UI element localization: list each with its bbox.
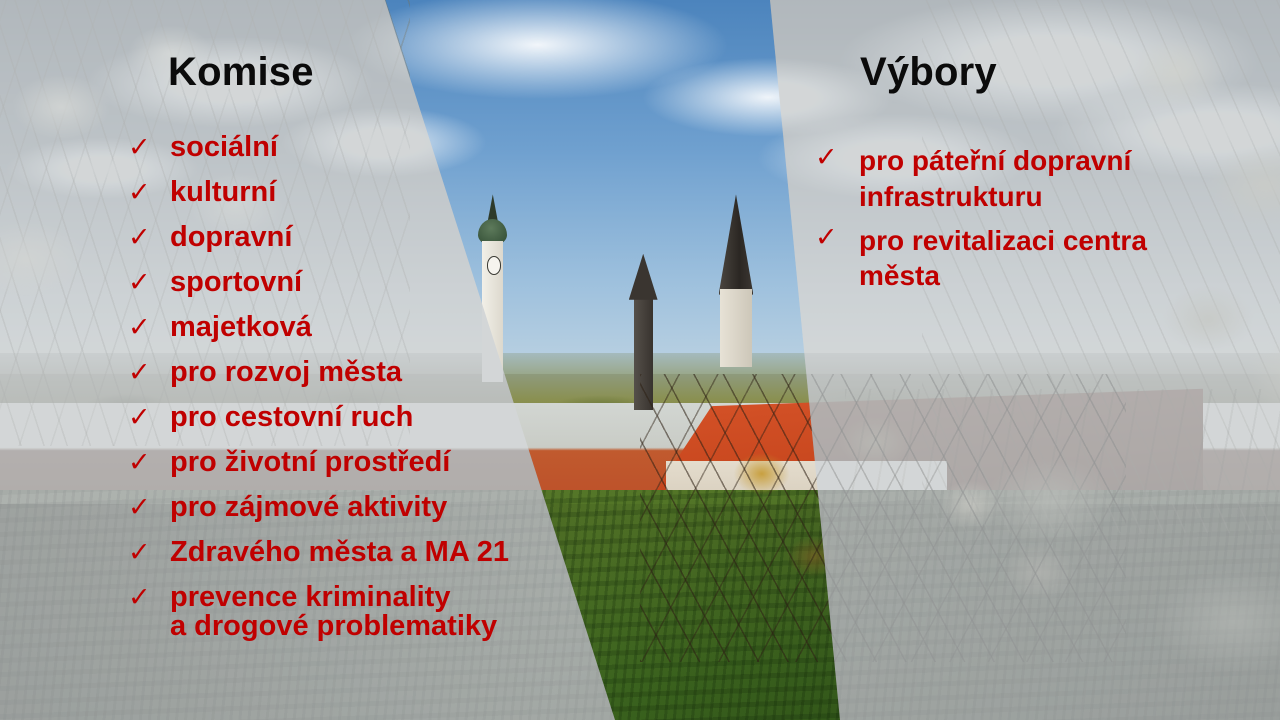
list-item-label: Zdravého města a MA 21	[170, 538, 598, 567]
list-item[interactable]: ✓ majetková	[128, 313, 598, 342]
check-mark-icon: ✓	[128, 358, 170, 386]
list-item[interactable]: ✓ Zdravého města a MA 21	[128, 538, 598, 567]
check-mark-icon: ✓	[128, 223, 170, 251]
pointed-tower	[714, 194, 758, 367]
list-item-label: majetková	[170, 313, 598, 342]
check-mark-icon: ✓	[128, 268, 170, 296]
column-komise-title: Komise	[168, 50, 598, 95]
list-item[interactable]: ✓ pro rozvoj města	[128, 358, 598, 387]
pointed-tower-spire	[719, 194, 754, 294]
check-mark-icon: ✓	[128, 538, 170, 566]
list-item[interactable]: ✓ kulturní	[128, 178, 598, 207]
check-mark-icon: ✓	[128, 493, 170, 521]
column-vybory-title: Výbory	[860, 50, 1235, 95]
list-item[interactable]: ✓ prevence kriminality a drogové problem…	[128, 583, 598, 641]
list-item-label: sportovní	[170, 268, 598, 297]
list-item-label: sociální	[170, 133, 598, 162]
list-item-label: pro cestovní ruch	[170, 403, 598, 432]
list-item[interactable]: ✓ pro revitalizaci centra města	[815, 223, 1235, 295]
column-komise: Komise ✓ sociální ✓ kulturní ✓ dopravní …	[128, 50, 598, 657]
list-item[interactable]: ✓ sociální	[128, 133, 598, 162]
list-item-label: pro revitalizaci centra města	[859, 223, 1235, 295]
list-item[interactable]: ✓ pro cestovní ruch	[128, 403, 598, 432]
check-mark-icon: ✓	[815, 143, 859, 171]
list-item-label: pro životní prostředí	[170, 448, 598, 477]
list-item[interactable]: ✓ dopravní	[128, 223, 598, 252]
list-item[interactable]: ✓ pro zájmové aktivity	[128, 493, 598, 522]
list-item-label: prevence kriminality a drogové problemat…	[170, 583, 598, 641]
check-mark-icon: ✓	[128, 403, 170, 431]
list-item[interactable]: ✓ pro páteřní dopravní infrastrukturu	[815, 143, 1235, 215]
list-item-label: dopravní	[170, 223, 598, 252]
list-item-label: pro zájmové aktivity	[170, 493, 598, 522]
check-mark-icon: ✓	[128, 133, 170, 161]
list-item[interactable]: ✓ sportovní	[128, 268, 598, 297]
check-mark-icon: ✓	[128, 448, 170, 476]
list-item-label: pro páteřní dopravní infrastrukturu	[859, 143, 1235, 215]
check-mark-icon: ✓	[128, 313, 170, 341]
slide-canvas: Komise ✓ sociální ✓ kulturní ✓ dopravní …	[0, 0, 1280, 720]
column-vybory: Výbory ✓ pro páteřní dopravní infrastruk…	[815, 50, 1235, 302]
vybory-list: ✓ pro páteřní dopravní infrastrukturu ✓ …	[815, 143, 1235, 294]
check-mark-icon: ✓	[815, 223, 859, 251]
komise-list: ✓ sociální ✓ kulturní ✓ dopravní ✓ sport…	[128, 133, 598, 641]
list-item-label: pro rozvoj města	[170, 358, 598, 387]
list-item[interactable]: ✓ pro životní prostředí	[128, 448, 598, 477]
check-mark-icon: ✓	[128, 583, 170, 611]
list-item-label: kulturní	[170, 178, 598, 207]
pointed-tower-shaft	[720, 289, 751, 367]
check-mark-icon: ✓	[128, 178, 170, 206]
